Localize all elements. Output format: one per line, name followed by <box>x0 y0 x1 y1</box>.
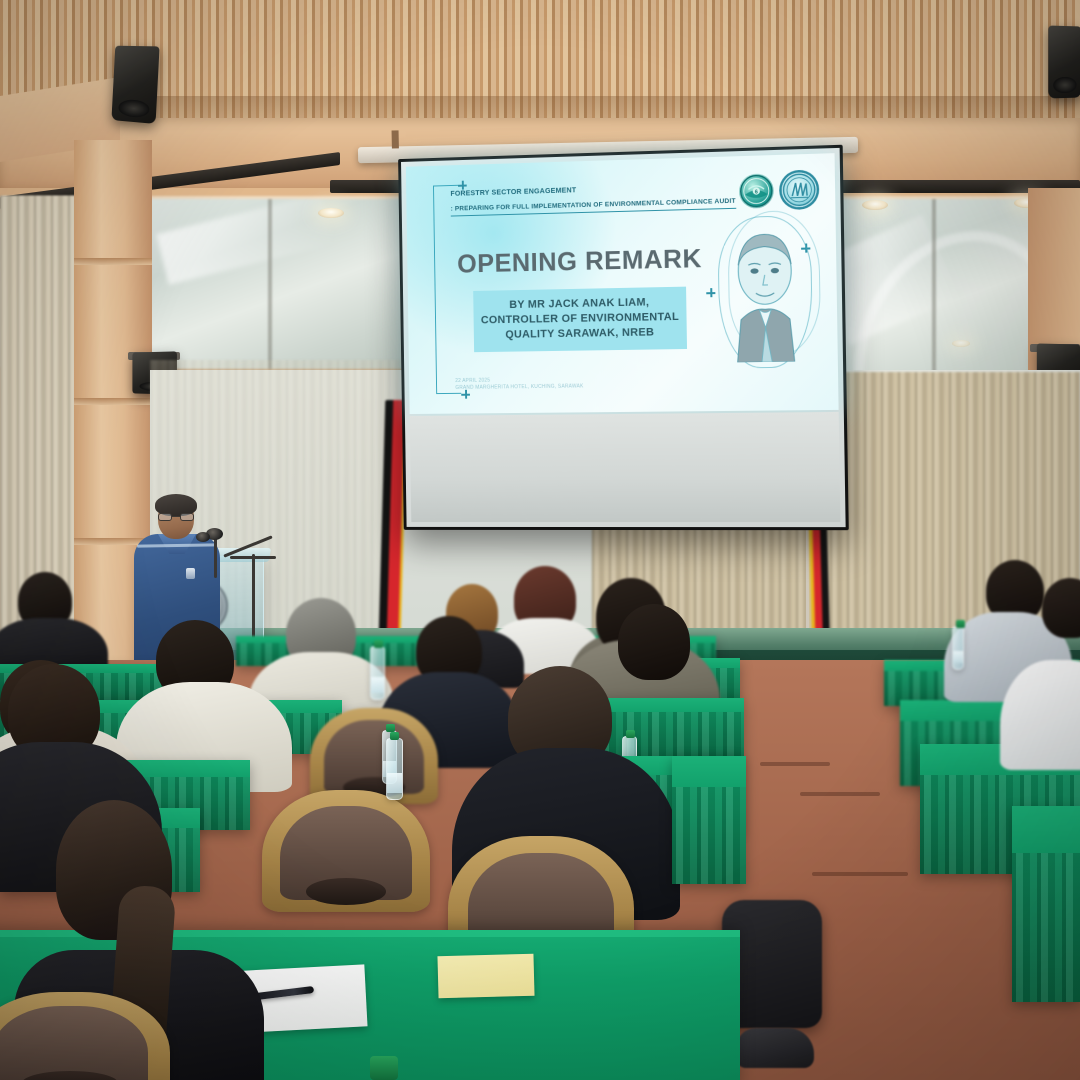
slide-subtitle-box: BY MR JACK ANAK LIAM, CONTROLLER OF ENVI… <box>473 287 687 353</box>
carpet-seam-2 <box>800 792 880 796</box>
speaker-eyeglasses <box>158 513 194 521</box>
attendee-head-r3-3 <box>618 604 690 680</box>
svg-text:6: 6 <box>755 189 758 195</box>
speaker-portrait-illustration <box>711 215 819 369</box>
forestry-department-logo <box>781 172 816 208</box>
slide-title: OPENING REMARK <box>451 244 708 278</box>
presentation-slide: FORESTRY SECTOR ENGAGEMENT : PREPARING F… <box>406 153 839 414</box>
wall-speaker-top-right-icon <box>1048 25 1080 98</box>
banquet-chair-r4-1 <box>262 790 430 912</box>
ceiling-downlight-5 <box>952 340 970 347</box>
mineral-water-bottle-2 <box>952 626 964 670</box>
carpet-seam-1 <box>760 762 830 766</box>
clerestory-glass-middle <box>150 196 412 372</box>
yellow-name-card <box>437 954 534 998</box>
mineral-water-bottle-5 <box>386 738 403 800</box>
shoe-on-floor <box>736 1028 814 1068</box>
microphone-head-2 <box>196 532 210 542</box>
table-row-5b <box>672 756 746 884</box>
table-row-right-1 <box>1012 806 1080 1002</box>
mineral-water-bottle-1 <box>370 646 385 700</box>
ceiling-downlight-2 <box>862 200 888 210</box>
microphone-boom-cross <box>230 556 276 559</box>
slide-footer: 22 APRIL 2025 GRAND MARGHERITA HOTEL, KU… <box>455 376 641 392</box>
ceiling-downlight-1 <box>318 208 344 218</box>
slide-subtitle-line3: QUALITY SARAWAK, NREB <box>480 325 681 343</box>
carpet-seam-3 <box>812 872 908 876</box>
nreb-logo: 6 <box>739 173 774 208</box>
slide-footer-line2: GRAND MARGHERITA HOTEL, KUCHING, SARAWAK <box>455 383 641 392</box>
microphone-stand-1 <box>214 538 217 578</box>
table-row-3b <box>598 698 744 758</box>
water-bottle-cap-fg <box>370 1056 398 1080</box>
projection-screen-blank-area <box>410 412 841 522</box>
conference-hall-photo: FORESTRY SECTOR ENGAGEMENT : PREPARING F… <box>0 0 1080 1080</box>
wall-speaker-top-left-icon <box>111 46 159 124</box>
projection-screen: FORESTRY SECTOR ENGAGEMENT : PREPARING F… <box>398 145 849 530</box>
